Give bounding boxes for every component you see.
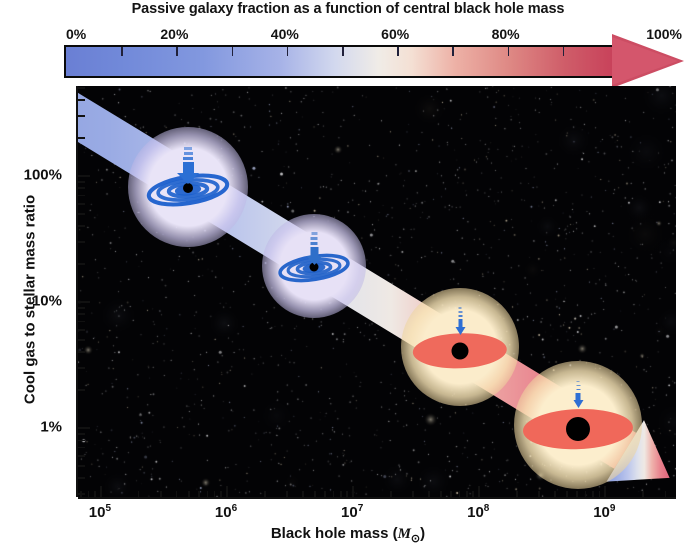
colorbar-gradient bbox=[66, 47, 614, 76]
x-tick-minor bbox=[472, 491, 474, 497]
galaxy-marker-3 bbox=[401, 288, 519, 406]
colorbar-tick-50 bbox=[342, 47, 344, 56]
y-tick-minor bbox=[78, 493, 85, 495]
x-tick-minor bbox=[665, 491, 667, 497]
x-tick-label-1e9: 109 bbox=[593, 503, 615, 521]
x-tick-minor bbox=[333, 491, 335, 497]
x-tick-minor bbox=[466, 491, 468, 497]
x-tick-mantissa: 10 bbox=[89, 504, 106, 521]
x-axis-title: Black hole mass (M⊙) bbox=[0, 525, 696, 545]
x-tick-minor bbox=[538, 491, 540, 497]
x-tick-minor bbox=[599, 491, 601, 497]
galaxy-marker-2 bbox=[262, 214, 366, 318]
x-tick-minor bbox=[314, 491, 316, 497]
colorbar: 0%20%40%60%80%100% bbox=[64, 26, 684, 82]
x-tick-minor bbox=[302, 491, 304, 497]
gas-inflow-arrow bbox=[455, 307, 466, 335]
y-tick-minor bbox=[78, 351, 85, 353]
y-tick-minor bbox=[78, 433, 85, 435]
y-tick-minor bbox=[78, 87, 85, 89]
x-tick-label-1e7: 107 bbox=[341, 503, 363, 521]
x-tick-major-1e6 bbox=[226, 486, 228, 497]
y-tick-minor bbox=[78, 213, 85, 215]
colorbar-bar bbox=[64, 45, 616, 78]
y-tick-major-1 bbox=[78, 427, 90, 429]
x-tick-minor bbox=[286, 491, 288, 497]
colorbar-tick-60 bbox=[397, 47, 399, 56]
x-tick-major-1e7 bbox=[352, 486, 354, 497]
x-tick-minor bbox=[566, 491, 568, 497]
y-tick-minor bbox=[78, 203, 85, 205]
y-tick-minor bbox=[78, 263, 85, 265]
y-axis-line bbox=[76, 86, 78, 497]
x-tick-exponent: 6 bbox=[232, 503, 238, 514]
colorbar-tick-40 bbox=[287, 47, 289, 56]
y-tick-minor bbox=[78, 187, 85, 189]
x-tick-minor bbox=[220, 491, 222, 497]
x-tick-major-1e8 bbox=[478, 486, 480, 497]
y-tick-minor bbox=[78, 181, 85, 183]
x-tick-minor bbox=[440, 491, 442, 497]
x-tick-minor bbox=[554, 491, 556, 497]
y-tick-minor bbox=[78, 313, 85, 315]
x-axis-title-sub: ⊙ bbox=[411, 533, 420, 545]
y-tick-minor bbox=[78, 307, 85, 309]
colorbar-tick-70 bbox=[452, 47, 454, 56]
black-hole bbox=[566, 417, 590, 441]
y-tick-minor bbox=[78, 195, 85, 197]
y-tick-minor bbox=[78, 440, 85, 442]
x-tick-mantissa: 10 bbox=[341, 504, 358, 521]
x-tick-minor bbox=[324, 491, 326, 497]
colorbar-label-60: 60% bbox=[381, 26, 409, 42]
x-tick-minor bbox=[94, 491, 96, 497]
y-tick-minor bbox=[78, 115, 85, 117]
y-tick-major-100 bbox=[78, 175, 90, 177]
x-axis-title-text: Black hole mass ( bbox=[271, 525, 398, 542]
x-axis-title-close: ) bbox=[420, 525, 425, 542]
y-tick-minor bbox=[78, 241, 85, 243]
x-tick-label-1e5: 105 bbox=[89, 503, 111, 521]
x-tick-minor bbox=[592, 491, 594, 497]
gas-inflow-arrow bbox=[573, 381, 584, 409]
y-tick-minor bbox=[78, 367, 85, 369]
x-tick-minor bbox=[459, 491, 461, 497]
y-tick-minor bbox=[78, 389, 85, 391]
x-tick-minor bbox=[160, 491, 162, 497]
galaxy-marker-4 bbox=[514, 361, 642, 489]
plot-area bbox=[78, 86, 676, 497]
y-tick-minor bbox=[78, 455, 85, 457]
y-tick-minor bbox=[78, 321, 85, 323]
x-tick-major-1e9 bbox=[604, 486, 606, 497]
y-tick-minor bbox=[78, 225, 85, 227]
x-tick-minor bbox=[198, 491, 200, 497]
gas-inflow-arrow bbox=[177, 147, 199, 183]
black-hole bbox=[183, 183, 193, 193]
colorbar-label-0: 0% bbox=[66, 26, 86, 42]
colorbar-label-80: 80% bbox=[492, 26, 520, 42]
x-tick-exponent: 7 bbox=[358, 503, 364, 514]
x-tick-exponent: 8 bbox=[484, 503, 490, 514]
y-tick-minor bbox=[78, 465, 85, 467]
x-tick-minor bbox=[207, 491, 209, 497]
x-tick-minor bbox=[214, 491, 216, 497]
x-tick-mantissa: 10 bbox=[467, 504, 484, 521]
black-hole bbox=[452, 343, 469, 360]
y-axis-title: Cool gas to stellar mass ratio bbox=[22, 150, 39, 450]
x-tick-minor bbox=[412, 491, 414, 497]
colorbar-tick-90 bbox=[563, 47, 565, 56]
y-tick-minor bbox=[78, 477, 85, 479]
x-tick-label-1e8: 108 bbox=[467, 503, 489, 521]
y-tick-minor bbox=[78, 137, 85, 139]
x-tick-minor bbox=[176, 491, 178, 497]
x-tick-minor bbox=[576, 491, 578, 497]
x-tick-minor bbox=[188, 491, 190, 497]
x-tick-minor bbox=[585, 491, 587, 497]
x-tick-minor bbox=[264, 491, 266, 497]
colorbar-tick-labels: 0%20%40%60%80%100% bbox=[64, 26, 684, 44]
x-tick-minor bbox=[88, 491, 90, 497]
x-tick-label-1e6: 106 bbox=[215, 503, 237, 521]
colorbar-label-40: 40% bbox=[271, 26, 299, 42]
x-tick-exponent: 5 bbox=[105, 503, 111, 514]
x-tick-mantissa: 10 bbox=[593, 504, 610, 521]
x-tick-minor bbox=[340, 491, 342, 497]
y-tick-minor bbox=[78, 339, 85, 341]
x-tick-minor bbox=[450, 491, 452, 497]
colorbar-tick-30 bbox=[232, 47, 234, 56]
x-tick-minor bbox=[516, 491, 518, 497]
gas-inflow-arrow bbox=[306, 232, 323, 265]
galaxy-marker-1 bbox=[128, 127, 248, 247]
x-axis-line bbox=[78, 497, 676, 499]
colorbar-label-20: 20% bbox=[160, 26, 188, 42]
colorbar-tick-10 bbox=[121, 47, 123, 56]
x-tick-minor bbox=[346, 491, 348, 497]
x-tick-exponent: 9 bbox=[610, 503, 616, 514]
y-tick-minor bbox=[78, 99, 85, 101]
x-tick-minor bbox=[428, 491, 430, 497]
colorbar-tick-20 bbox=[176, 47, 178, 56]
figure-title: Passive galaxy fraction as a function of… bbox=[0, 1, 696, 17]
x-axis-title-symbol: M bbox=[398, 526, 411, 542]
x-tick-mantissa: 10 bbox=[215, 504, 232, 521]
x-tick-minor bbox=[642, 491, 644, 497]
y-tick-minor bbox=[78, 329, 85, 331]
x-tick-minor bbox=[138, 491, 140, 497]
colorbar-tick-80 bbox=[508, 47, 510, 56]
y-tick-major-10 bbox=[78, 301, 90, 303]
figure-root: Passive galaxy fraction as a function of… bbox=[0, 0, 696, 553]
x-tick-major-1e5 bbox=[100, 486, 102, 497]
y-tick-minor bbox=[78, 447, 85, 449]
colorbar-arrowhead bbox=[612, 37, 678, 85]
x-tick-minor bbox=[390, 491, 392, 497]
